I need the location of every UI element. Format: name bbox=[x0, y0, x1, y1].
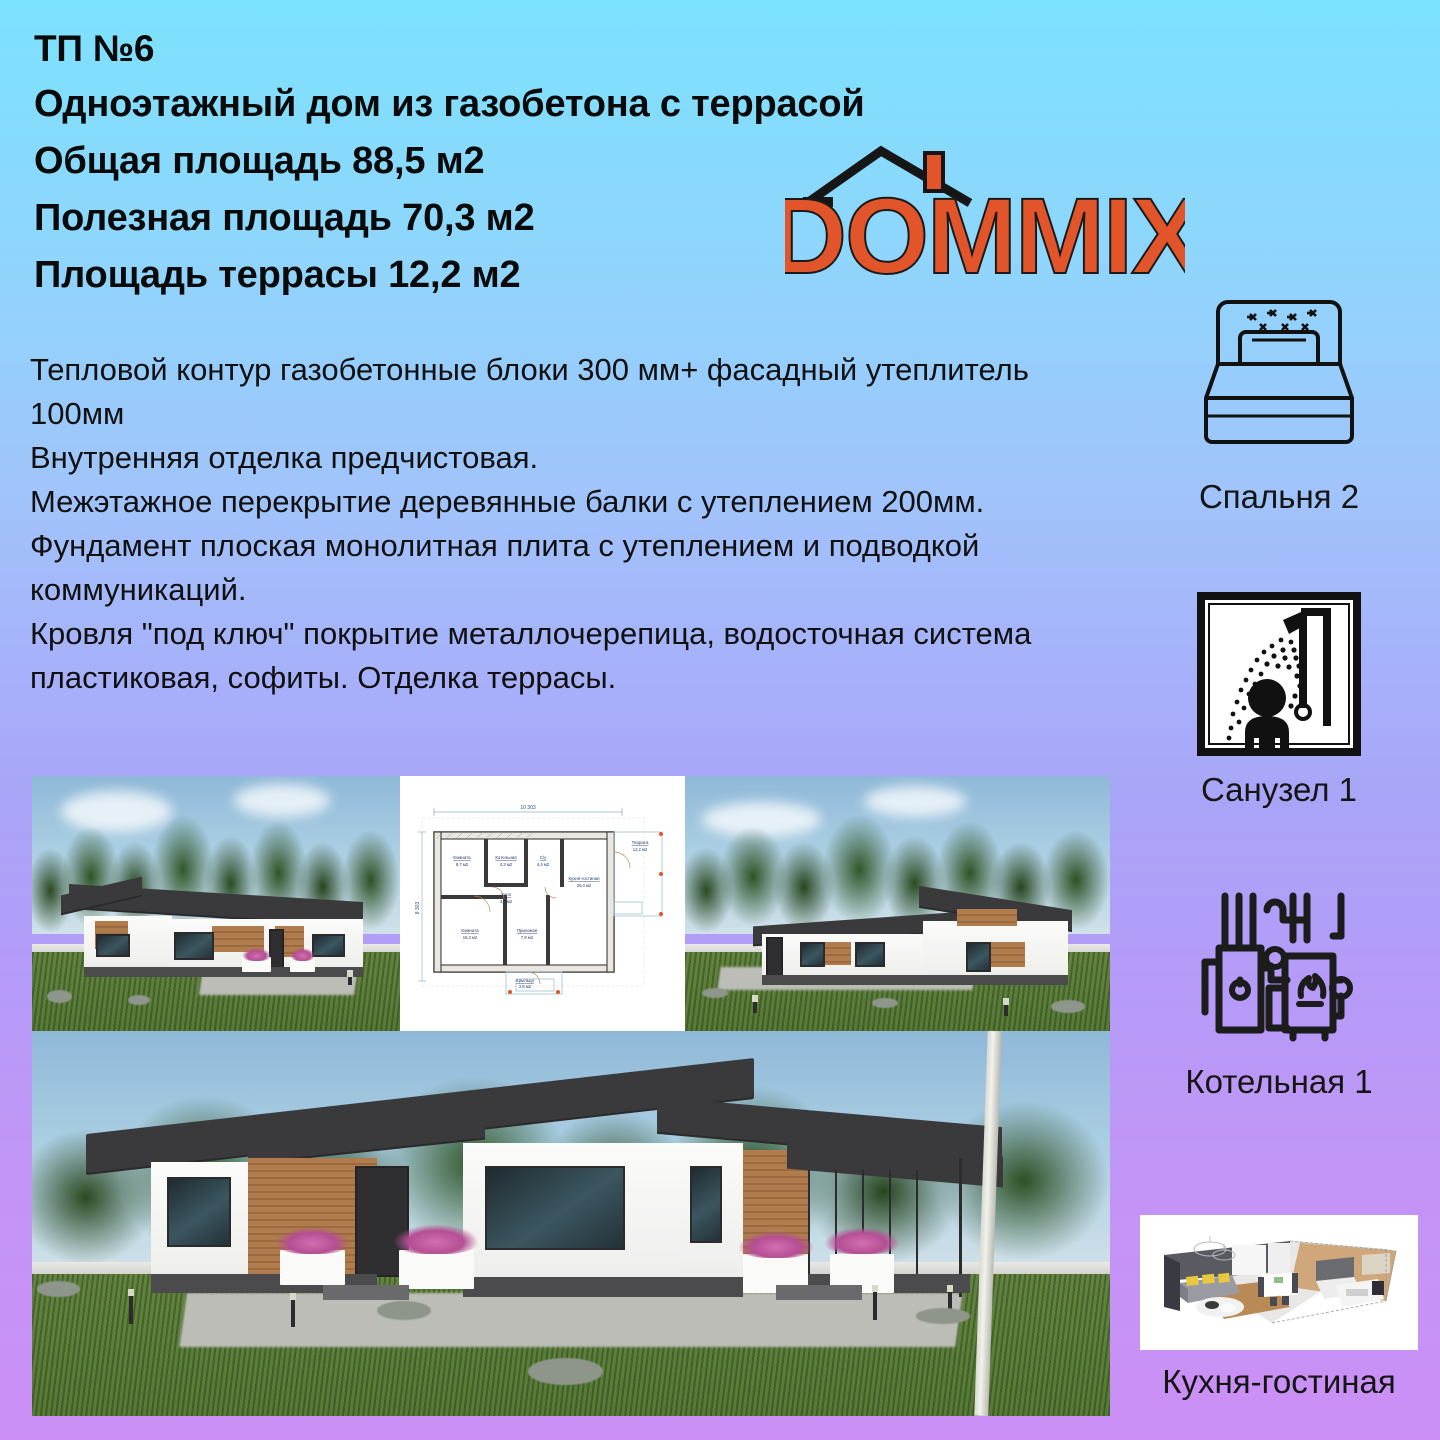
sidebar-item-kitchen-living[interactable]: Кухня-гостиная bbox=[1118, 1215, 1440, 1400]
sidebar-label-bathroom: Санузел 1 bbox=[1118, 772, 1440, 808]
svg-text:С/у: С/у bbox=[540, 855, 547, 860]
svg-text:4,3 м2: 4,3 м2 bbox=[500, 862, 513, 867]
spec-foundation: Фундамент плоская монолитная плита с уте… bbox=[30, 524, 1120, 612]
sidebar-label-boiler-room: Котельная 1 bbox=[1118, 1064, 1440, 1100]
svg-text:7,8 м2: 7,8 м2 bbox=[521, 935, 534, 940]
spec-thermal-envelope: Тепловой контур газобетонные блоки 300 м… bbox=[30, 348, 1120, 436]
house-exterior-front-left-photo[interactable] bbox=[32, 776, 400, 1031]
kitchen-living-room-thumbnail[interactable] bbox=[1140, 1215, 1418, 1350]
specs-block: Тепловой контур газобетонные блоки 300 м… bbox=[30, 348, 1120, 700]
svg-text:10 303: 10 303 bbox=[520, 805, 536, 811]
svg-text:25,4 м2: 25,4 м2 bbox=[577, 883, 592, 888]
svg-text:16,3 м2: 16,3 м2 bbox=[463, 935, 478, 940]
spec-interior-finish: Внутренняя отделка предчистовая. bbox=[30, 436, 1120, 480]
room-legend-sidebar: Спальня 2 bbox=[1118, 290, 1440, 1440]
house-exterior-rear-right-photo[interactable] bbox=[685, 776, 1110, 1031]
svg-text:Комната: Комната bbox=[461, 928, 479, 933]
svg-text:4,7 м2: 4,7 м2 bbox=[500, 899, 513, 904]
floor-plan-image[interactable]: 10 303 8 303 bbox=[400, 776, 685, 1031]
spec-roof: Кровля "под ключ" покрытие металлочерепи… bbox=[30, 612, 1120, 700]
project-code: ТП №6 bbox=[34, 22, 1114, 76]
project-title: Одноэтажный дом из газобетона с террасой bbox=[34, 76, 1114, 133]
boiler-icon bbox=[1118, 890, 1440, 1050]
house-exterior-main-photo[interactable] bbox=[32, 1031, 1110, 1416]
svg-text:8 303: 8 303 bbox=[415, 902, 421, 915]
sidebar-item-bedroom[interactable]: Спальня 2 bbox=[1118, 290, 1440, 515]
logo-wordmark: DOMMIX bbox=[785, 175, 1185, 296]
svg-text:4,4 м2: 4,4 м2 bbox=[537, 862, 550, 867]
sidebar-label-bedroom: Спальня 2 bbox=[1118, 479, 1440, 515]
dommix-logo: DOMMIX bbox=[785, 145, 1185, 300]
plan-room-label: Комната bbox=[453, 855, 471, 860]
bed-icon bbox=[1118, 290, 1440, 465]
gallery-top-row: 10 303 8 303 bbox=[32, 776, 1110, 1031]
svg-text:Прихожая: Прихожая bbox=[517, 928, 538, 933]
svg-text:Кухня-гостиная: Кухня-гостиная bbox=[568, 876, 600, 881]
spec-floor-structure: Межэтажное перекрытие деревянные балки с… bbox=[30, 480, 1120, 524]
sidebar-item-boiler-room[interactable]: Котельная 1 bbox=[1118, 890, 1440, 1100]
sidebar-item-bathroom[interactable]: Санузел 1 bbox=[1118, 590, 1440, 808]
svg-text:Котельная: Котельная bbox=[495, 855, 517, 860]
sidebar-label-kitchen-living: Кухня-гостиная bbox=[1118, 1364, 1440, 1400]
svg-text:Терраса: Терраса bbox=[632, 840, 649, 845]
svg-text:9,7 м2: 9,7 м2 bbox=[456, 862, 469, 867]
svg-text:2,6 м2: 2,6 м2 bbox=[519, 984, 532, 989]
shower-icon bbox=[1118, 590, 1440, 758]
svg-text:12,2 м2: 12,2 м2 bbox=[633, 847, 648, 852]
